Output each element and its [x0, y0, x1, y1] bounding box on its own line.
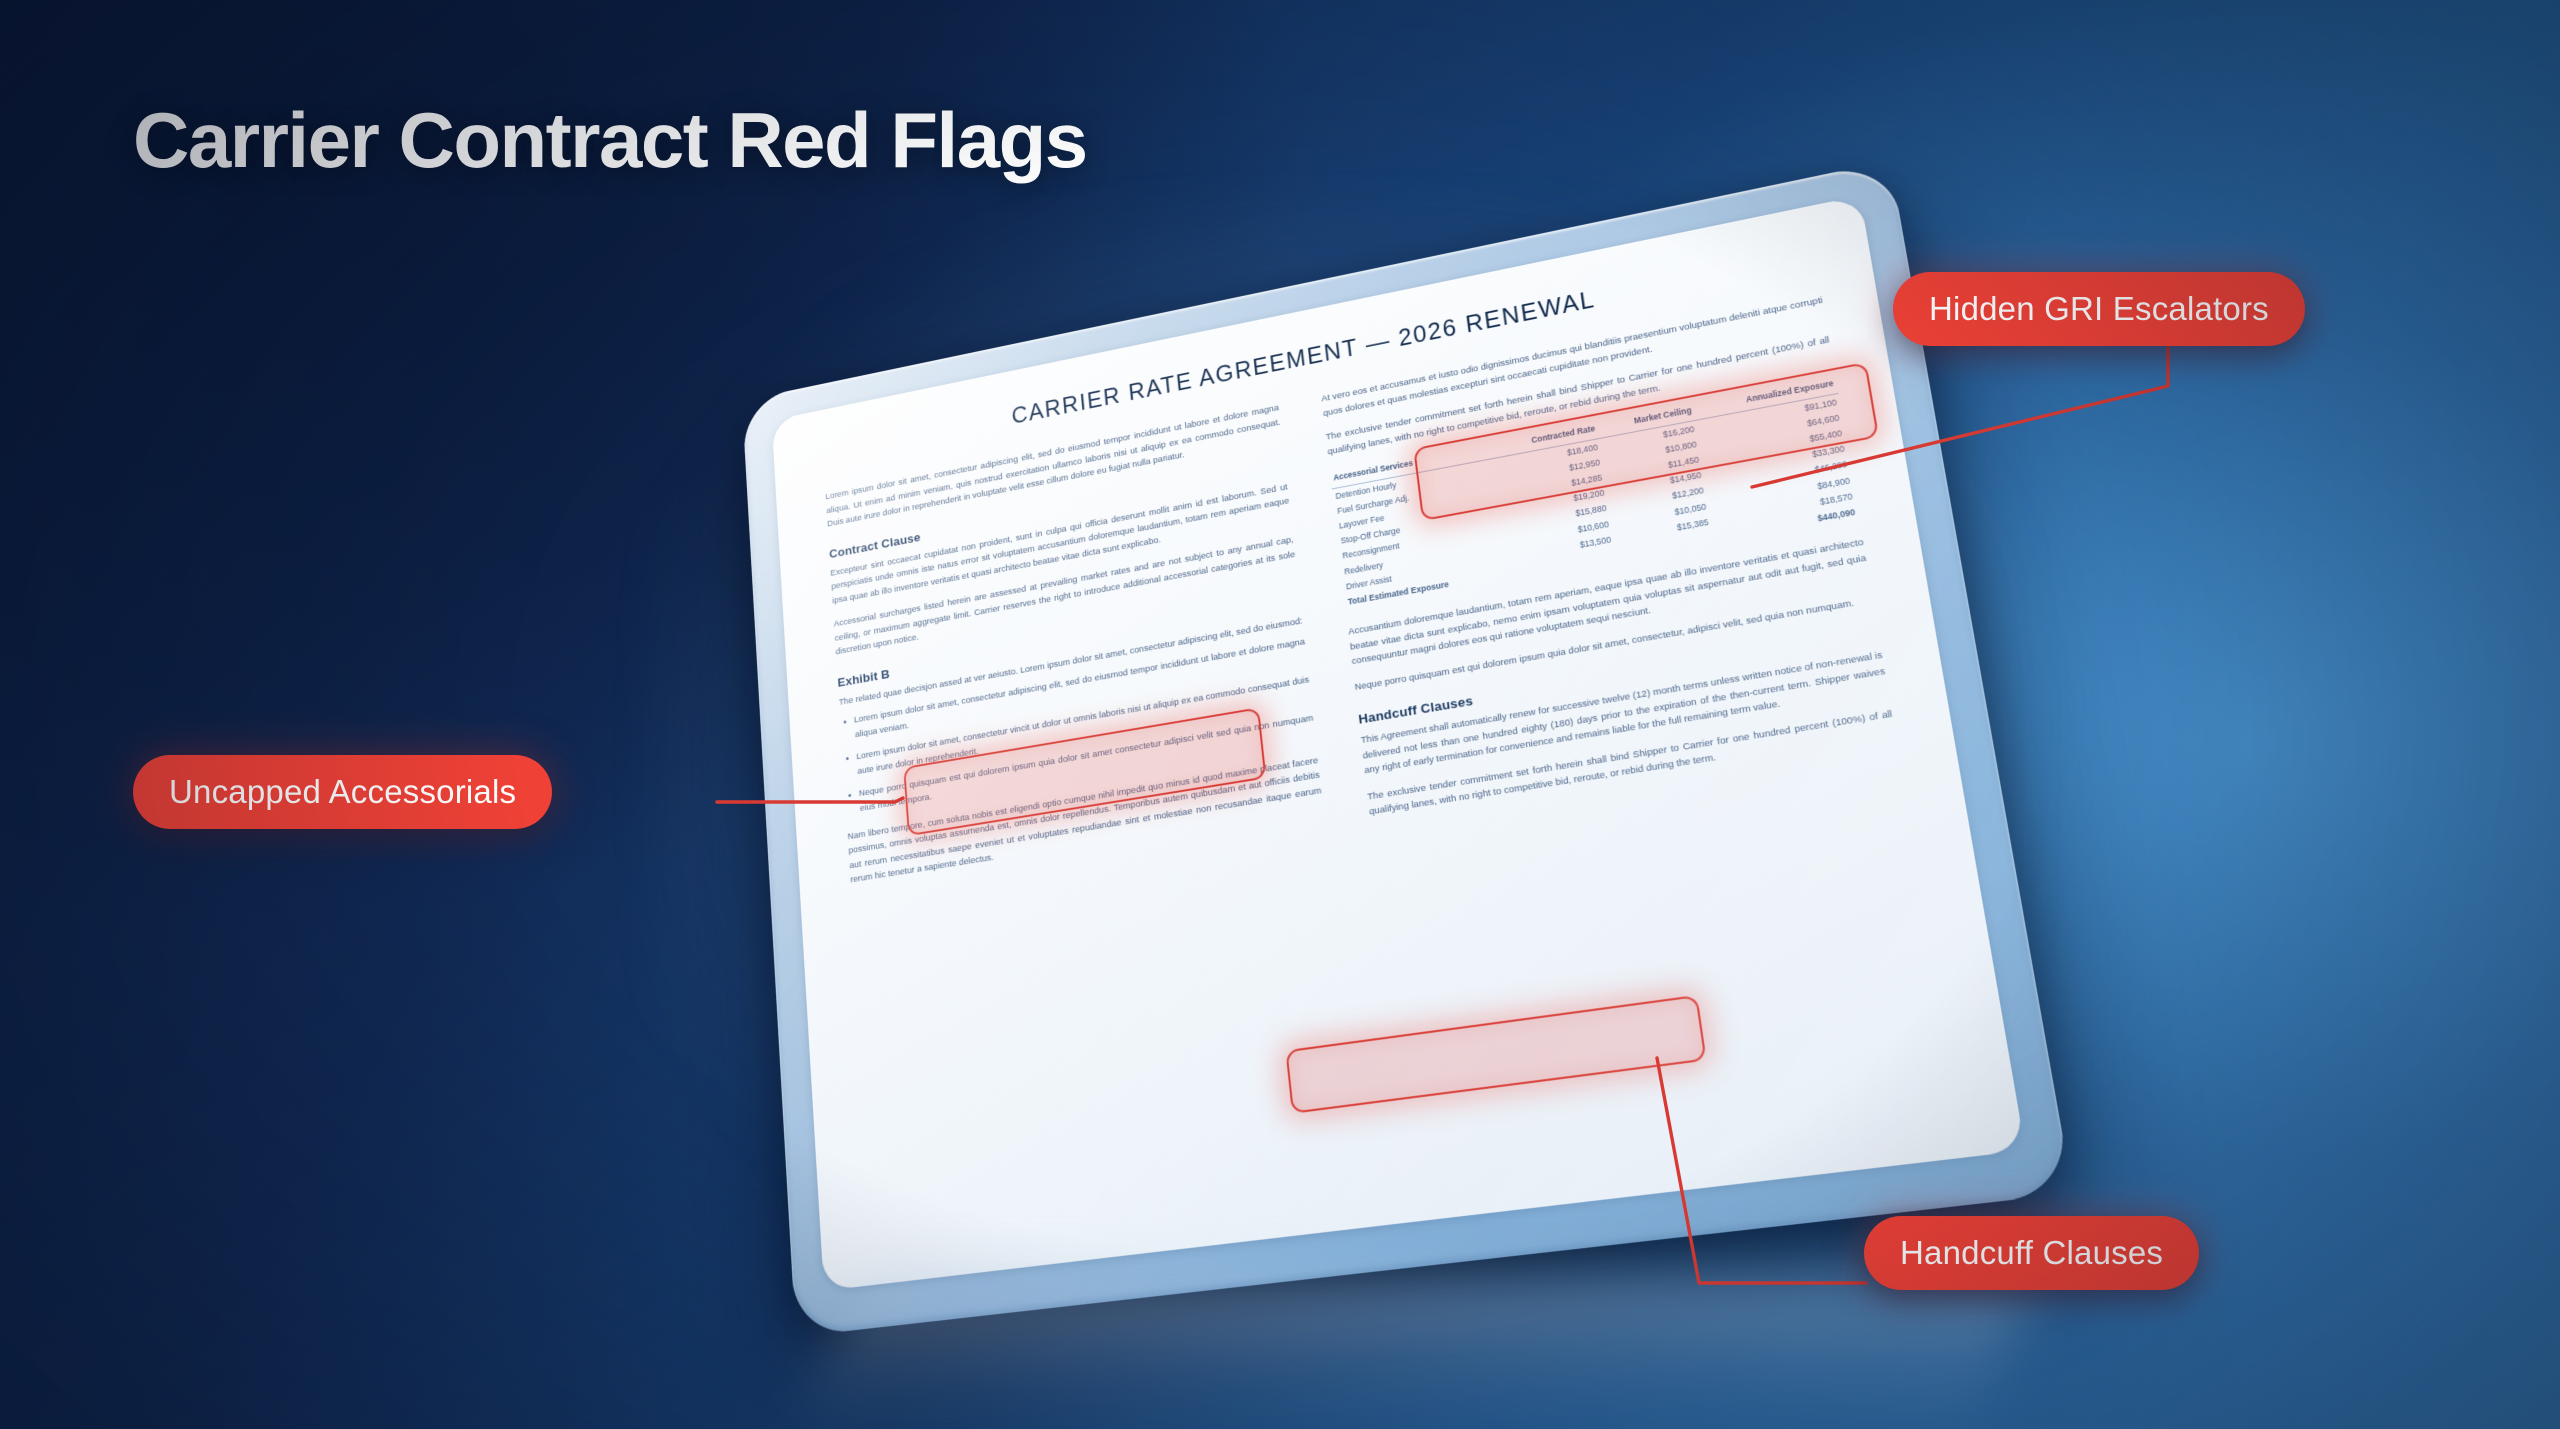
callout-pill-uncapped-accessorials[interactable]: Uncapped Accessorials	[133, 755, 552, 829]
table-cell-contracted: $13,500	[1506, 531, 1615, 566]
callout-pill-label: Uncapped Accessorials	[169, 773, 516, 811]
document-mockup: CARRIER RATE AGREEMENT — 2026 RENEWAL Lo…	[712, 250, 1962, 1260]
contract-document: CARRIER RATE AGREEMENT — 2026 RENEWAL Lo…	[822, 238, 1962, 1256]
table-cell-ceiling: $12,200	[1608, 482, 1708, 515]
page-title: Carrier Contract Red Flags	[133, 95, 1087, 186]
callout-pill-hidden-gri-escalators[interactable]: Hidden GRI Escalators	[1893, 272, 2305, 346]
handcuff-highlighted-clause-text: The exclusive tender commitment set fort…	[1367, 706, 1897, 820]
callout-pill-label: Hidden GRI Escalators	[1929, 290, 2269, 328]
slide-canvas: Carrier Contract Red Flags CARRIER RATE …	[0, 0, 2560, 1429]
table-cell-exposure: $18,570	[1710, 488, 1857, 530]
table-column-header: Market Ceiling	[1597, 403, 1696, 438]
right-column: At vero eos et accusamus et iusto odio d…	[1321, 293, 1898, 831]
table-cell-ceiling: $14,950	[1606, 467, 1705, 500]
table-cell-ceiling: $15,385	[1613, 513, 1713, 546]
table-cell-ceiling: $10,050	[1611, 498, 1711, 531]
table-cell-ceiling: $16,200	[1599, 420, 1698, 454]
highlight-box-handcuff-clauses	[1285, 995, 1706, 1114]
accessorial-rate-table: Accessorial Services Contracted Rate Mar…	[1330, 376, 1860, 610]
left-column: Lorem ipsum dolor sit amet, consectetur …	[825, 401, 1327, 912]
table-cell-contracted: $10,600	[1504, 515, 1613, 550]
callout-pill-handcuff-clauses[interactable]: Handcuff Clauses	[1864, 1216, 2199, 1290]
right-body-paragraph-2: Neque porro quisquam est qui dolorem ips…	[1354, 592, 1874, 695]
handcuff-section-body: This Agreement shall automatically renew…	[1360, 648, 1889, 779]
callout-pill-label: Handcuff Clauses	[1900, 1234, 2163, 1272]
